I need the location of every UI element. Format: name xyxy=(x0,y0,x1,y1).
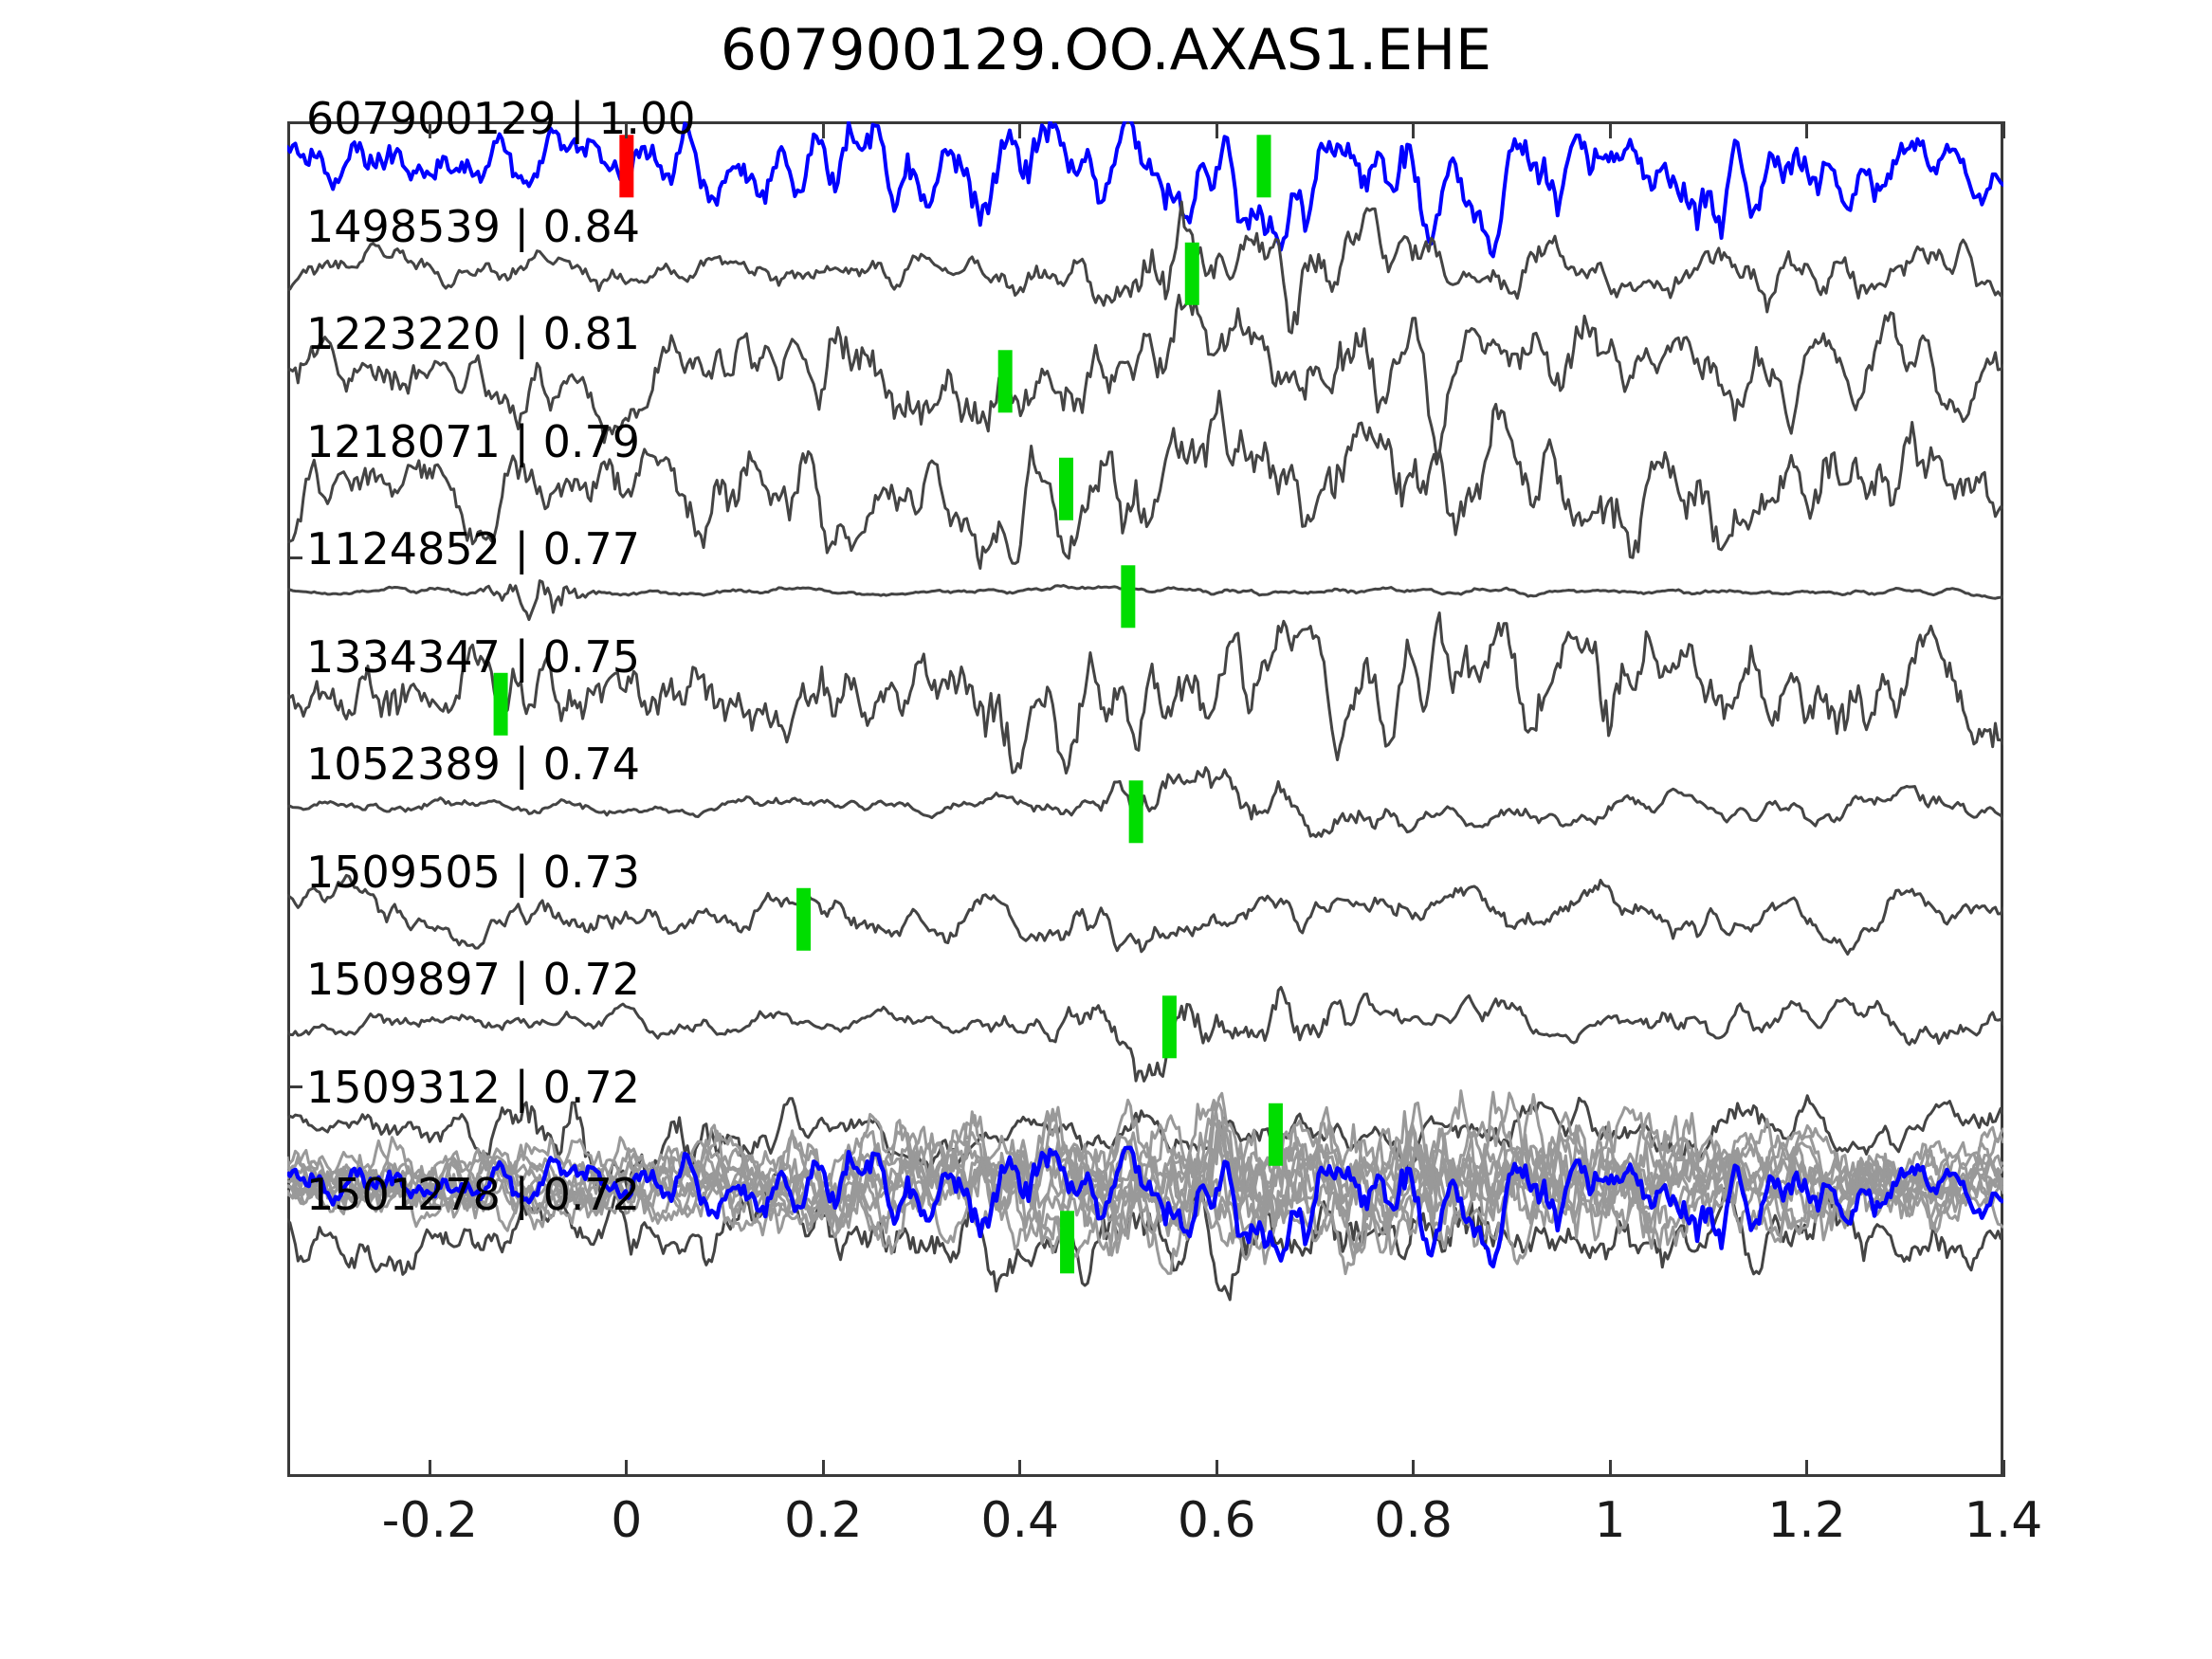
x-tick-mark-top xyxy=(625,121,628,138)
detection-pick-marker xyxy=(796,888,811,951)
x-tick-label: 1.4 xyxy=(1965,1492,2043,1549)
x-tick-mark xyxy=(1805,1460,1808,1477)
x-tick-mark-top xyxy=(1216,121,1218,138)
detection-pick-marker xyxy=(1060,1211,1074,1273)
x-tick-label: 1 xyxy=(1595,1492,1626,1549)
x-tick-mark xyxy=(1216,1460,1218,1477)
x-tick-mark-top xyxy=(1609,121,1612,138)
x-tick-label: 0.6 xyxy=(1178,1492,1256,1549)
x-tick-mark xyxy=(2002,1460,2005,1477)
detection-pick-marker xyxy=(1162,995,1177,1058)
x-tick-mark xyxy=(625,1460,628,1477)
detection-pick-marker xyxy=(1269,1103,1283,1166)
x-tick-mark xyxy=(429,1460,431,1477)
x-tick-mark-top xyxy=(2002,121,2005,138)
trace-label-1501278: 1501278 | 0.72 xyxy=(306,1169,640,1220)
x-tick-mark xyxy=(1412,1460,1415,1477)
waveform-figure: 607900129.OO.AXAS1.EHE 607900129 | 1.001… xyxy=(0,0,2212,1659)
detection-pick-marker xyxy=(1121,565,1135,628)
detection-pick-marker xyxy=(1129,780,1143,843)
trace-label-1509897: 1509897 | 0.72 xyxy=(306,954,640,1005)
page-title: 607900129.OO.AXAS1.EHE xyxy=(0,17,2212,83)
x-tick-label: 1.2 xyxy=(1767,1492,1846,1549)
x-tick-mark xyxy=(1018,1460,1021,1477)
trace-label-1509505: 1509505 | 0.73 xyxy=(306,847,640,898)
trace-label-1498539: 1498539 | 0.84 xyxy=(306,201,640,252)
x-tick-mark xyxy=(822,1460,825,1477)
x-tick-label: 0 xyxy=(611,1492,642,1549)
x-tick-label: 0.4 xyxy=(980,1492,1059,1549)
detection-pick-marker xyxy=(1256,135,1271,197)
trace-label-1509312: 1509312 | 0.72 xyxy=(306,1062,640,1113)
trace-label-1223220: 1223220 | 0.81 xyxy=(306,308,640,359)
template-pick-marker xyxy=(619,135,633,197)
traces-group xyxy=(287,121,2003,1300)
x-tick-mark-top xyxy=(1018,121,1021,138)
detection-pick-marker xyxy=(998,350,1013,412)
trace-label-1052389: 1052389 | 0.74 xyxy=(306,738,640,790)
y-tick-mark xyxy=(287,1085,302,1088)
x-tick-label: -0.2 xyxy=(382,1492,478,1549)
x-tick-mark-top xyxy=(822,121,825,138)
x-tick-label: 0.2 xyxy=(784,1492,863,1549)
x-tick-mark-top xyxy=(1412,121,1415,138)
y-tick-mark xyxy=(287,556,302,559)
x-tick-mark-top xyxy=(429,121,431,138)
x-tick-mark xyxy=(1609,1460,1612,1477)
trace-label-1124852: 1124852 | 0.77 xyxy=(306,523,640,574)
x-tick-mark-top xyxy=(1805,121,1808,138)
trace-label-1334347: 1334347 | 0.75 xyxy=(306,631,640,683)
detection-pick-marker xyxy=(1059,458,1073,520)
waveform-trace xyxy=(287,581,2003,620)
trace-label-1218071: 1218071 | 0.79 xyxy=(306,416,640,467)
trace-label-607900129: 607900129 | 1.00 xyxy=(306,93,696,144)
x-tick-label: 0.8 xyxy=(1374,1492,1453,1549)
detection-pick-marker xyxy=(1185,243,1199,305)
